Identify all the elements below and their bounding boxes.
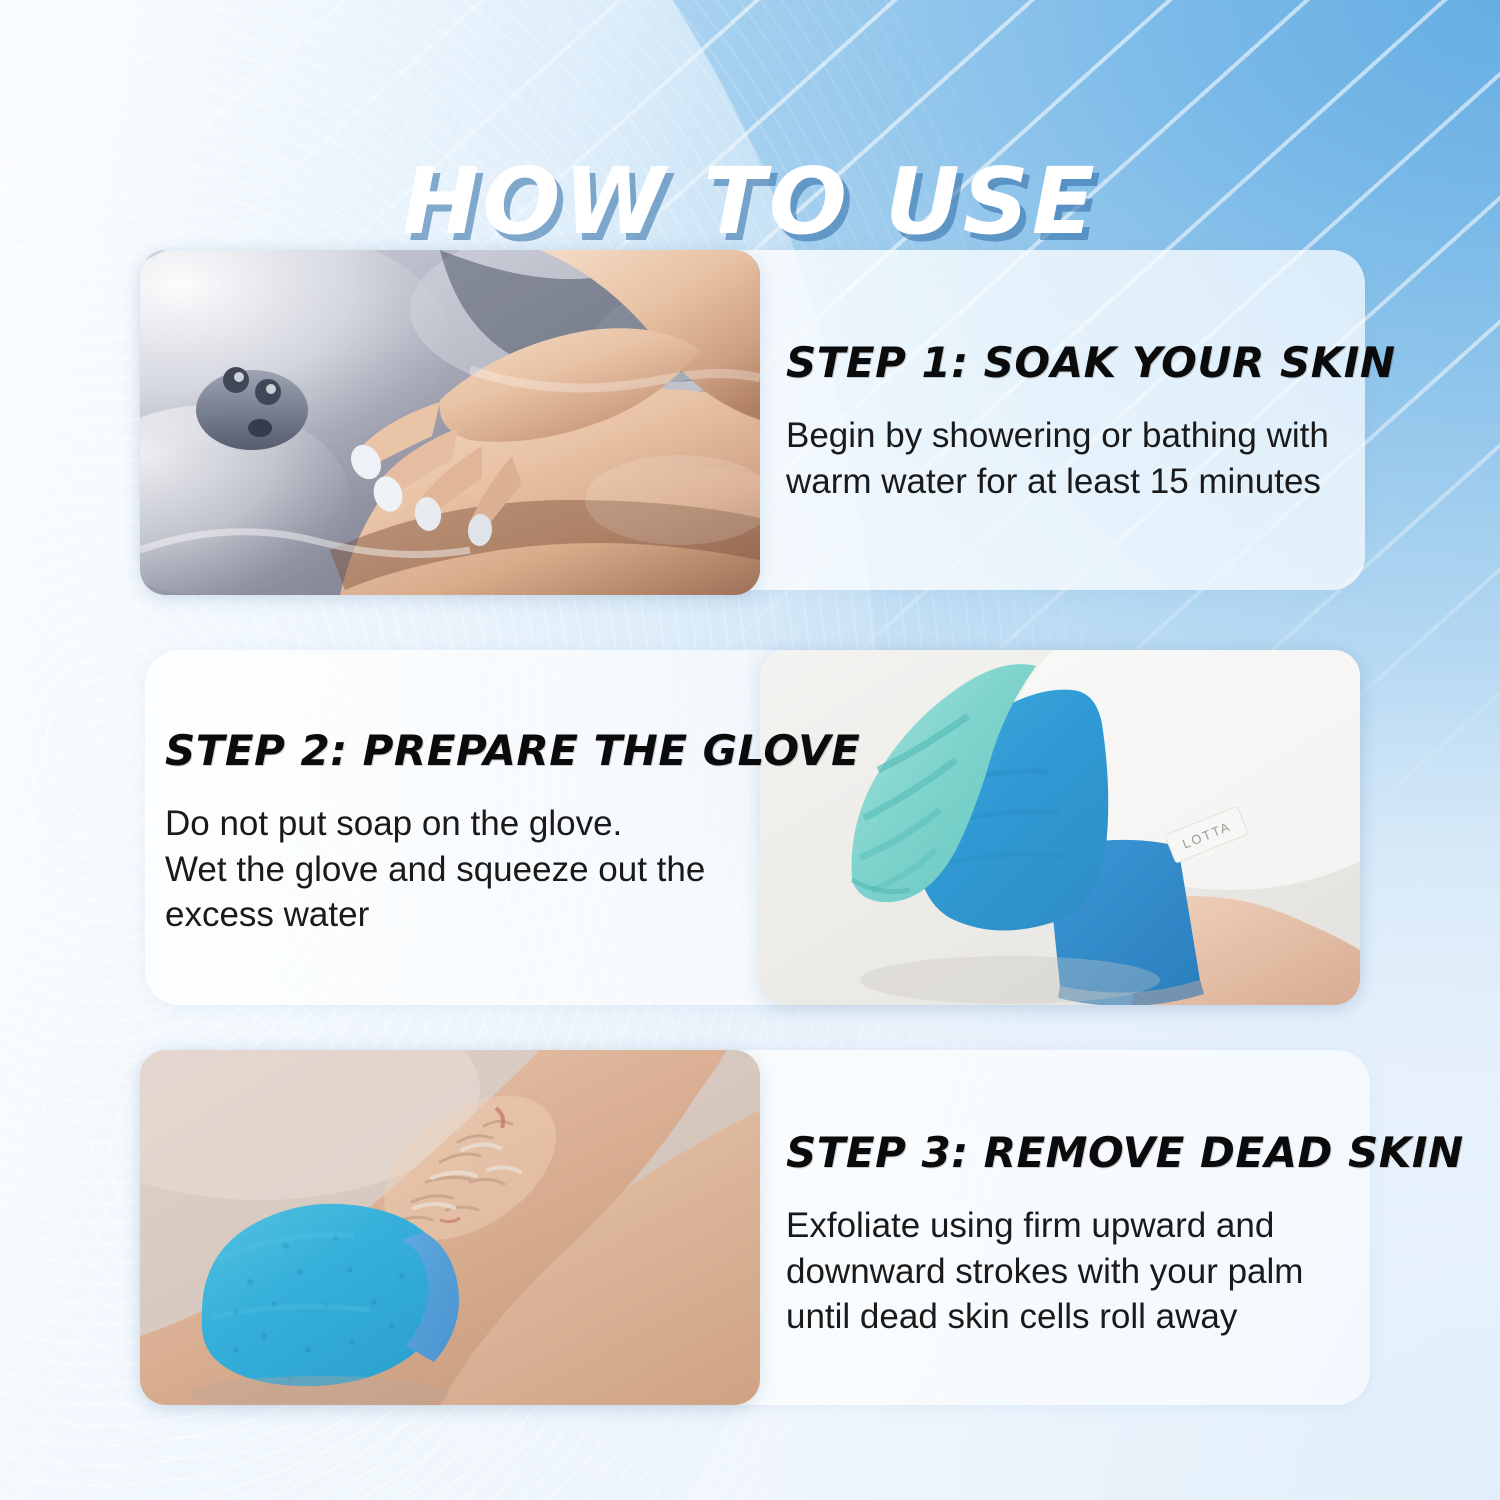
step-2-body: Do not put soap on the glove. Wet the gl… <box>165 801 745 938</box>
how-to-use-poster: HOW TO USE <box>0 0 1500 1500</box>
step-2-text: STEP 2: PREPARE THE GLOVE Do not put soa… <box>165 726 745 938</box>
exfoliating-leg-photo <box>140 1050 760 1405</box>
step-3-heading: STEP 3: REMOVE DEAD SKIN <box>786 1128 1386 1177</box>
step-1-body: Begin by showering or bathing with warm … <box>786 413 1366 504</box>
page-title: HOW TO USE <box>402 154 1098 251</box>
blue-exfoliating-glove-photo: LOTTA <box>760 650 1360 1005</box>
step-2-heading: STEP 2: PREPARE THE GLOVE <box>165 726 745 775</box>
step-1-heading: STEP 1: SOAK YOUR SKIN <box>786 338 1366 387</box>
step-3-text: STEP 3: REMOVE DEAD SKIN Exfoliate using… <box>786 1128 1386 1340</box>
step-1-text: STEP 1: SOAK YOUR SKIN Begin by showerin… <box>786 338 1366 504</box>
poster-title-container: HOW TO USE <box>0 92 1500 312</box>
step-3-body: Exfoliate using firm upward and downward… <box>786 1203 1386 1340</box>
